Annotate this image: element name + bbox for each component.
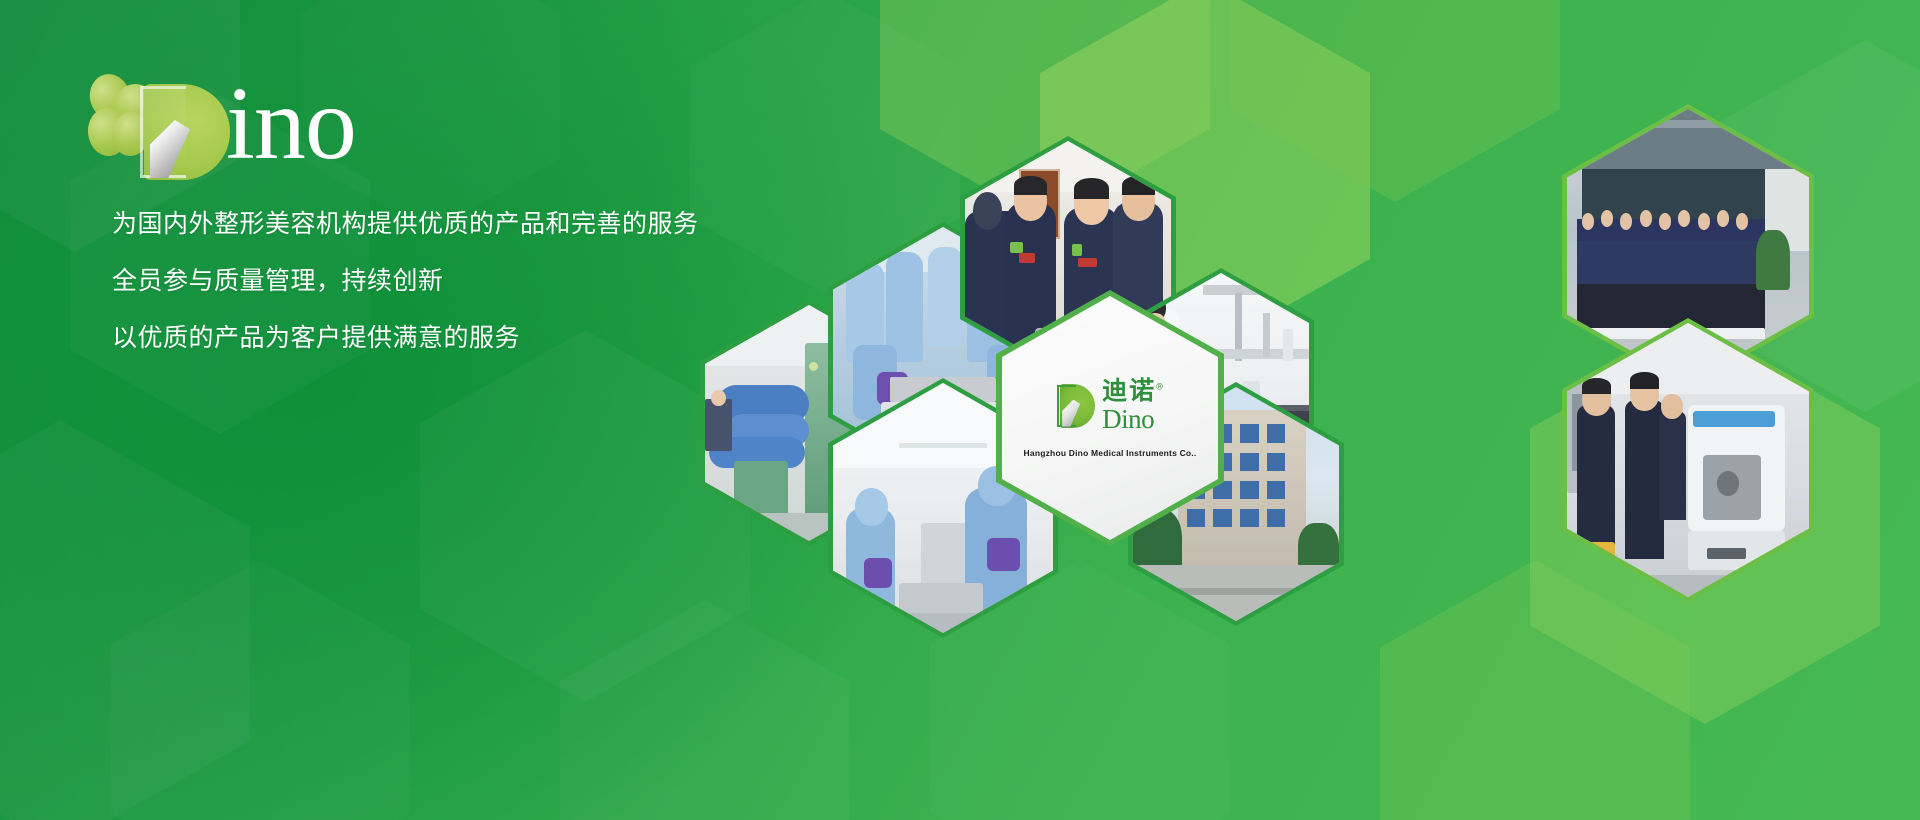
- tagline-line-1: 为国内外整形美容机构提供优质的产品和完善的服务: [112, 208, 699, 240]
- decorative-hexagon-6: [560, 600, 850, 820]
- brand-mark: 迪诺® Dino: [1055, 379, 1165, 433]
- tagline-group: 为国内外整形美容机构提供优质的产品和完善的服务 全员参与质量管理，持续创新 以优…: [112, 208, 699, 354]
- tagline-line-2: 全员参与质量管理，持续创新: [112, 265, 699, 297]
- tagline-line-3: 以优质的产品为客户提供满意的服务: [112, 322, 699, 354]
- decorative-hexagon-4: [110, 560, 410, 820]
- decorative-hexagon-13: [1380, 560, 1690, 820]
- decorative-hexagon-3: [0, 420, 250, 820]
- logo-wordmark: ino: [226, 72, 356, 176]
- decorative-hexagon-10: [1230, 0, 1560, 202]
- brand-name-cn: 迪诺®: [1102, 379, 1165, 404]
- registered-mark: ®: [1156, 381, 1165, 391]
- company-name-line: Hangzhou Dino Medical Instruments Co..: [1024, 448, 1197, 458]
- logo-d-mark-icon: [134, 84, 230, 180]
- brand-d-mark-icon: [1055, 384, 1095, 428]
- hero-banner: ino 为国内外整形美容机构提供优质的产品和完善的服务 全员参与质量管理，持续创…: [0, 0, 1920, 820]
- photo-hexagon-cnc-operation[interactable]: [1562, 318, 1814, 602]
- brand-logo[interactable]: ino: [88, 68, 418, 178]
- brand-name-en: Dino: [1102, 406, 1165, 433]
- brand-name-cn-text: 迪诺: [1102, 377, 1156, 405]
